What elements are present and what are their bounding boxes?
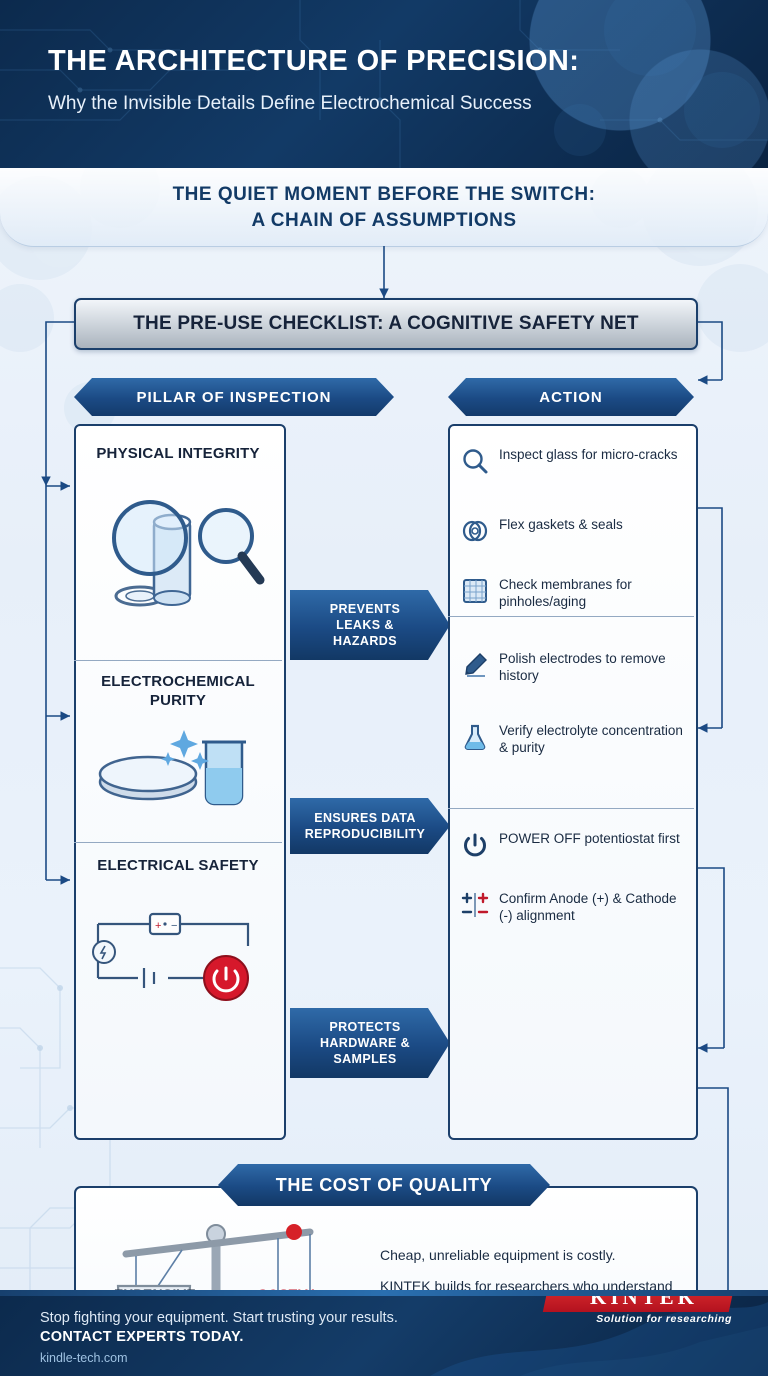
gasket-rings-icon xyxy=(460,516,490,546)
benefit-1-line3: HAZARDS xyxy=(330,633,401,649)
magnifier-glassware-icon xyxy=(76,476,280,626)
membrane-grid-icon xyxy=(460,576,490,606)
pillar-electrical-safety-title: ELECTRICAL SAFETY xyxy=(76,856,280,875)
footer-cta[interactable]: CONTACT EXPERTS TODAY. xyxy=(40,1329,244,1345)
action-polish-electrodes-text: Polish electrodes to remove history xyxy=(499,650,688,684)
electrode-disc-beaker-icon xyxy=(76,712,280,822)
benefit-3-line1: PROTECTS xyxy=(320,1019,410,1035)
circuit-pattern-icon xyxy=(0,0,768,168)
benefit-ensures-reproducibility: ENSURES DATA REPRODUCIBILITY xyxy=(290,798,450,854)
action-flex-gaskets-text: Flex gaskets & seals xyxy=(499,516,623,533)
column-header-pillar-label: PILLAR OF INSPECTION xyxy=(136,389,331,406)
footer-url[interactable]: kindle-tech.com xyxy=(40,1351,128,1365)
action-check-membranes: Check membranes for pinholes/aging xyxy=(460,576,688,610)
benefit-3-line2: HARDWARE & xyxy=(320,1035,410,1051)
pillar-electrical-safety: ELECTRICAL SAFETY + − xyxy=(76,846,280,1132)
footer-line1: Stop fighting your equipment. Start trus… xyxy=(40,1310,398,1326)
action-confirm-polarity-text: Confirm Anode (+) & Cathode (-) alignmen… xyxy=(499,890,688,924)
main-panel: THE QUIET MOMENT BEFORE THE SWITCH: A CH… xyxy=(0,168,768,1296)
action-inspect-glass: Inspect glass for micro-cracks xyxy=(460,446,688,476)
action-divider-2 xyxy=(448,808,694,809)
logo-wordmark: KINTEK xyxy=(556,1296,732,1310)
header-banner: THE ARCHITECTURE OF PRECISION: Why the I… xyxy=(0,0,768,168)
magnifier-icon xyxy=(460,446,490,476)
benefit-2-line2: REPRODUCIBILITY xyxy=(305,826,426,842)
polishing-pen-icon xyxy=(460,650,490,680)
pillar-electrochemical-purity-title: ELECTROCHEMICAL PURITY xyxy=(76,672,280,710)
power-button-icon xyxy=(460,830,490,860)
page-subtitle: Why the Invisible Details Define Electro… xyxy=(48,92,532,116)
action-polish-electrodes: Polish electrodes to remove history xyxy=(460,650,688,684)
polarity-icon xyxy=(460,890,490,920)
action-check-membranes-text: Check membranes for pinholes/aging xyxy=(499,576,688,610)
flask-icon xyxy=(460,722,490,752)
action-power-off: POWER OFF potentiostat first xyxy=(460,830,688,860)
page-title: THE ARCHITECTURE OF PRECISION: xyxy=(48,44,579,78)
benefit-1-line1: PREVENTS xyxy=(330,601,401,617)
kintek-logo: KINTEK Solution for researching xyxy=(546,1296,732,1328)
pillar-divider-2 xyxy=(74,842,282,843)
cost-of-quality-text: Cheap, unreliable equipment is costly. K… xyxy=(380,1246,678,1296)
diagram-content: THE QUIET MOMENT BEFORE THE SWITCH: A CH… xyxy=(0,168,768,1296)
benefit-2-line1: ENSURES DATA xyxy=(305,810,426,826)
column-header-action: ACTION xyxy=(448,378,694,416)
column-header-action-label: ACTION xyxy=(539,389,603,406)
action-power-off-text: POWER OFF potentiostat first xyxy=(499,830,680,847)
cost-of-quality-header-label: THE COST OF QUALITY xyxy=(276,1175,492,1196)
action-verify-electrolyte: Verify electrolyte concentration & purit… xyxy=(460,722,688,756)
benefit-prevents-leaks: PREVENTS LEAKS & HAZARDS xyxy=(290,590,450,660)
action-verify-electrolyte-text: Verify electrolyte concentration & purit… xyxy=(499,722,688,756)
benefit-protects-hardware: PROTECTS HARDWARE & SAMPLES xyxy=(290,1008,450,1078)
svg-text:−: − xyxy=(171,920,177,932)
footer-banner: Stop fighting your equipment. Start trus… xyxy=(0,1296,768,1376)
pillar-electrochemical-purity: ELECTROCHEMICAL PURITY xyxy=(76,664,280,840)
action-inspect-glass-text: Inspect glass for micro-cracks xyxy=(499,446,678,463)
benefit-1-line2: LEAKS & xyxy=(330,617,401,633)
pillar-physical-integrity: PHYSICAL INTEGRITY xyxy=(76,434,280,658)
infographic-page: THE ARCHITECTURE OF PRECISION: Why the I… xyxy=(0,0,768,1376)
action-flex-gaskets: Flex gaskets & seals xyxy=(460,516,688,546)
checklist-title-text: THE PRE-USE CHECKLIST: A COGNITIVE SAFET… xyxy=(76,313,696,335)
pillar-divider-1 xyxy=(74,660,282,661)
cost-paragraph-1: Cheap, unreliable equipment is costly. xyxy=(380,1246,678,1265)
circuit-power-icon: + − xyxy=(76,902,280,1022)
action-confirm-polarity: Confirm Anode (+) & Cathode (-) alignmen… xyxy=(460,890,688,924)
checklist-title-bar: THE PRE-USE CHECKLIST: A COGNITIVE SAFET… xyxy=(74,298,698,350)
pillar-physical-integrity-title: PHYSICAL INTEGRITY xyxy=(76,444,280,463)
balance-scale-icon xyxy=(96,1206,366,1296)
logo-tagline: Solution for researching xyxy=(546,1313,732,1325)
svg-text:+: + xyxy=(155,920,161,932)
action-divider-1 xyxy=(448,616,694,617)
cost-of-quality-header: THE COST OF QUALITY xyxy=(218,1164,550,1206)
benefit-3-line3: SAMPLES xyxy=(320,1051,410,1067)
column-header-pillar: PILLAR OF INSPECTION xyxy=(74,378,394,416)
